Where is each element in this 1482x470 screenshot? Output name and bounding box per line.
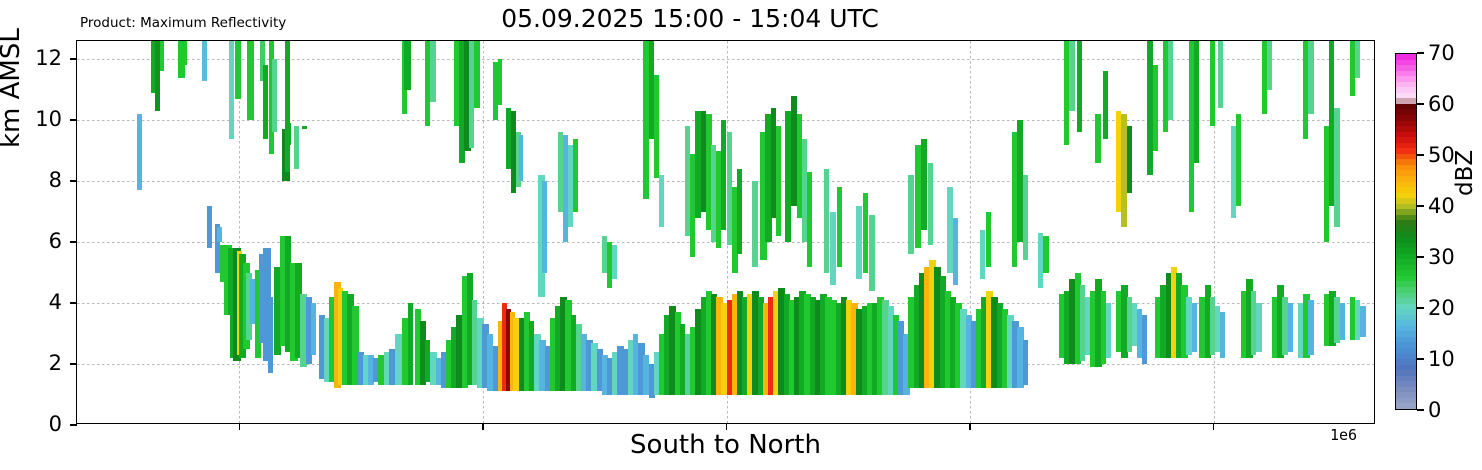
reflectivity-column — [1220, 312, 1225, 358]
x-axis-offset-label: 1e6 — [1330, 426, 1357, 444]
reflectivity-column — [928, 163, 933, 245]
reflectivity-column — [474, 41, 479, 108]
reflectivity-column — [837, 187, 842, 266]
colorbar-band — [1396, 253, 1416, 259]
reflectivity-column — [1210, 41, 1215, 126]
colorbar-tick — [1417, 307, 1424, 309]
colorbar-band — [1396, 170, 1416, 176]
reflectivity-column — [1194, 41, 1199, 163]
colorbar-band — [1396, 92, 1416, 98]
reflectivity-column — [1168, 41, 1173, 120]
reflectivity-column — [311, 303, 316, 355]
colorbar-band — [1396, 286, 1416, 292]
reflectivity-column — [1340, 303, 1345, 340]
colorbar-band — [1396, 264, 1416, 270]
colorbar-band — [1396, 142, 1416, 148]
reflectivity-column — [752, 181, 757, 266]
colorbar-band — [1396, 364, 1416, 370]
reflectivity-column — [404, 41, 410, 90]
colorbar-band — [1396, 81, 1416, 87]
reflectivity-column — [776, 126, 781, 236]
radar-cross-section-figure: Product: Maximum Reflectivity 05.09.2025… — [0, 0, 1482, 470]
colorbar-tick-label: 70 — [1428, 41, 1455, 65]
reflectivity-column — [869, 215, 874, 291]
reflectivity-column — [389, 349, 395, 386]
colorbar-band — [1396, 220, 1416, 226]
reflectivity-column — [247, 41, 253, 120]
reflectivity-column — [654, 75, 659, 179]
reflectivity-column — [519, 135, 523, 181]
y-axis-tick-label: 8 — [49, 168, 62, 192]
reflectivity-column — [1236, 114, 1241, 205]
reflectivity-column — [830, 212, 835, 285]
reflectivity-column — [1069, 41, 1074, 111]
colorbar-tick-label: 30 — [1428, 245, 1455, 269]
colorbar — [1395, 53, 1417, 410]
colorbar-band — [1396, 381, 1416, 387]
colorbar-band — [1396, 125, 1416, 131]
reflectivity-column — [1192, 303, 1197, 352]
reflectivity-column — [1023, 175, 1028, 260]
colorbar-band — [1396, 397, 1416, 403]
reflectivity-column — [1288, 303, 1293, 352]
reflectivity-column — [1095, 114, 1100, 163]
colorbar-band — [1396, 148, 1416, 154]
colorbar-band — [1396, 153, 1416, 159]
colorbar-band — [1396, 131, 1416, 137]
y-tick-label-group: 024681012 — [0, 40, 70, 424]
colorbar-band — [1396, 314, 1416, 320]
colorbar-band — [1396, 270, 1416, 276]
reflectivity-column — [542, 181, 547, 272]
colorbar-band — [1396, 308, 1416, 314]
reflectivity-column — [1267, 41, 1272, 90]
colorbar-tick-label: 20 — [1428, 296, 1455, 320]
colorbar-band — [1396, 186, 1416, 192]
colorbar-band — [1396, 159, 1416, 165]
colorbar-band — [1396, 331, 1416, 337]
colorbar-band — [1396, 120, 1416, 126]
reflectivity-column — [160, 41, 164, 71]
reflectivity-column — [498, 59, 502, 105]
x-axis-title: South to North — [76, 430, 1375, 460]
reflectivity-column — [272, 59, 277, 132]
colorbar-band — [1396, 303, 1416, 309]
x-axis-tick — [726, 423, 728, 430]
y-axis-tick — [70, 180, 77, 182]
reflectivity-column — [229, 41, 234, 139]
colorbar-tick — [1417, 256, 1424, 258]
colorbar-band — [1396, 164, 1416, 170]
y-axis-tick-label: 10 — [35, 107, 62, 131]
colorbar-band — [1396, 231, 1416, 237]
reflectivity-column — [824, 169, 829, 273]
reflectivity-column — [953, 218, 958, 285]
colorbar-band — [1396, 225, 1416, 231]
reflectivity-column — [1334, 108, 1339, 227]
colorbar-band — [1396, 358, 1416, 364]
reflectivity-column — [856, 206, 861, 279]
reflectivity-column — [1360, 306, 1365, 336]
y-axis-tick-label: 0 — [49, 412, 62, 436]
reflectivity-column — [137, 114, 142, 190]
colorbar-band — [1396, 275, 1416, 281]
reflectivity-column — [235, 41, 240, 99]
reflectivity-column — [395, 334, 401, 386]
colorbar-title: dBZ — [1452, 150, 1478, 196]
colorbar-tick-label: 50 — [1428, 143, 1455, 167]
colorbar-band — [1396, 403, 1416, 409]
colorbar-tick-label: 10 — [1428, 347, 1455, 371]
colorbar-band — [1396, 325, 1416, 331]
reflectivity-column — [737, 169, 742, 254]
reflectivity-column — [807, 172, 812, 266]
reflectivity-column — [285, 41, 290, 172]
y-axis-tick-label: 4 — [49, 290, 62, 314]
colorbar-band — [1396, 109, 1416, 115]
reflectivity-column — [1153, 65, 1158, 150]
colorbar-band — [1396, 64, 1416, 70]
colorbar-band — [1396, 114, 1416, 120]
colorbar-tick — [1417, 205, 1424, 207]
colorbar-band — [1396, 76, 1416, 82]
colorbar-tick — [1417, 409, 1424, 411]
reflectivity-column — [294, 126, 299, 169]
colorbar-band — [1396, 209, 1416, 215]
colorbar-band — [1396, 59, 1416, 65]
reflectivity-column — [263, 65, 268, 138]
colorbar-band — [1396, 292, 1416, 298]
colorbar-band — [1396, 386, 1416, 392]
colorbar-band — [1396, 336, 1416, 342]
reflectivity-column — [1106, 303, 1111, 358]
colorbar-band — [1396, 353, 1416, 359]
reflectivity-column — [986, 212, 991, 267]
reflectivity-column — [1142, 315, 1147, 364]
colorbar-band — [1396, 320, 1416, 326]
y-axis-tick-label: 2 — [49, 351, 62, 375]
colorbar-band — [1396, 198, 1416, 204]
reflectivity-column — [612, 245, 617, 279]
colorbar-band — [1396, 175, 1416, 181]
colorbar-band — [1396, 281, 1416, 287]
reflectivity-column — [1256, 303, 1261, 352]
y-axis-tick — [70, 424, 77, 426]
colorbar-tick-label: 60 — [1428, 92, 1455, 116]
reflectivity-column — [980, 230, 985, 279]
colorbar-band — [1396, 70, 1416, 76]
colorbar-band — [1396, 203, 1416, 209]
colorbar-band — [1396, 137, 1416, 143]
colorbar-band — [1396, 192, 1416, 198]
colorbar-band — [1396, 87, 1416, 93]
y-axis-tick-label: 12 — [35, 46, 62, 70]
colorbar-band — [1396, 214, 1416, 220]
colorbar-band — [1396, 242, 1416, 248]
colorbar-band — [1396, 297, 1416, 303]
reflectivity-column — [268, 297, 273, 373]
colorbar-tick — [1417, 103, 1424, 105]
colorbar-tick — [1417, 358, 1424, 360]
reflectivity-column — [908, 175, 913, 254]
reflectivity-column — [659, 175, 664, 227]
reflectivity-column — [1023, 340, 1028, 386]
plot-clip — [77, 41, 1374, 423]
y-axis-tick — [70, 58, 77, 60]
colorbar-band — [1396, 53, 1416, 59]
y-axis-tick — [70, 119, 77, 121]
colorbar-tick-label: 0 — [1428, 398, 1441, 422]
y-axis-tick — [70, 363, 77, 365]
colorbar-tick-label: 40 — [1428, 194, 1455, 218]
reflectivity-column — [408, 303, 413, 385]
reflectivity-column — [1308, 300, 1313, 355]
reflectivity-data-layer — [77, 41, 1374, 423]
colorbar-band — [1396, 259, 1416, 265]
reflectivity-column — [921, 139, 926, 230]
reflectivity-column — [863, 193, 868, 272]
y-axis-tick — [70, 302, 77, 304]
colorbar-tick — [1417, 154, 1424, 156]
x-axis-tick — [239, 423, 241, 430]
y-axis-tick-label: 6 — [49, 229, 62, 253]
chart-title: 05.09.2025 15:00 - 15:04 UTC — [0, 4, 1380, 33]
reflectivity-column — [573, 139, 578, 212]
reflectivity-column — [1218, 41, 1223, 108]
reflectivity-column — [430, 41, 435, 102]
colorbar-band — [1396, 103, 1416, 109]
colorbar-tick — [1417, 52, 1424, 54]
colorbar-band — [1396, 347, 1416, 353]
reflectivity-column — [1308, 41, 1313, 114]
reflectivity-column — [1103, 71, 1108, 138]
reflectivity-column — [1043, 236, 1048, 273]
y-axis-tick — [70, 241, 77, 243]
colorbar-band — [1396, 342, 1416, 348]
colorbar-band — [1396, 247, 1416, 253]
reflectivity-column — [1355, 41, 1360, 78]
reflectivity-column — [217, 227, 222, 242]
colorbar-band — [1396, 375, 1416, 381]
reflectivity-column — [1127, 126, 1132, 193]
colorbar-band — [1396, 236, 1416, 242]
colorbar-band — [1396, 369, 1416, 375]
reflectivity-column — [202, 41, 207, 81]
colorbar-band — [1396, 392, 1416, 398]
reflectivity-column — [184, 41, 188, 65]
colorbar-band — [1396, 181, 1416, 187]
plot-area — [76, 40, 1375, 424]
x-axis-tick — [482, 423, 484, 430]
x-axis-tick — [969, 423, 971, 430]
colorbar-band — [1396, 98, 1416, 104]
reflectivity-column — [207, 206, 212, 249]
reflectivity-column — [1077, 41, 1082, 132]
x-axis-tick — [1213, 423, 1215, 430]
reflectivity-column — [302, 126, 307, 129]
reflectivity-column — [915, 145, 921, 249]
